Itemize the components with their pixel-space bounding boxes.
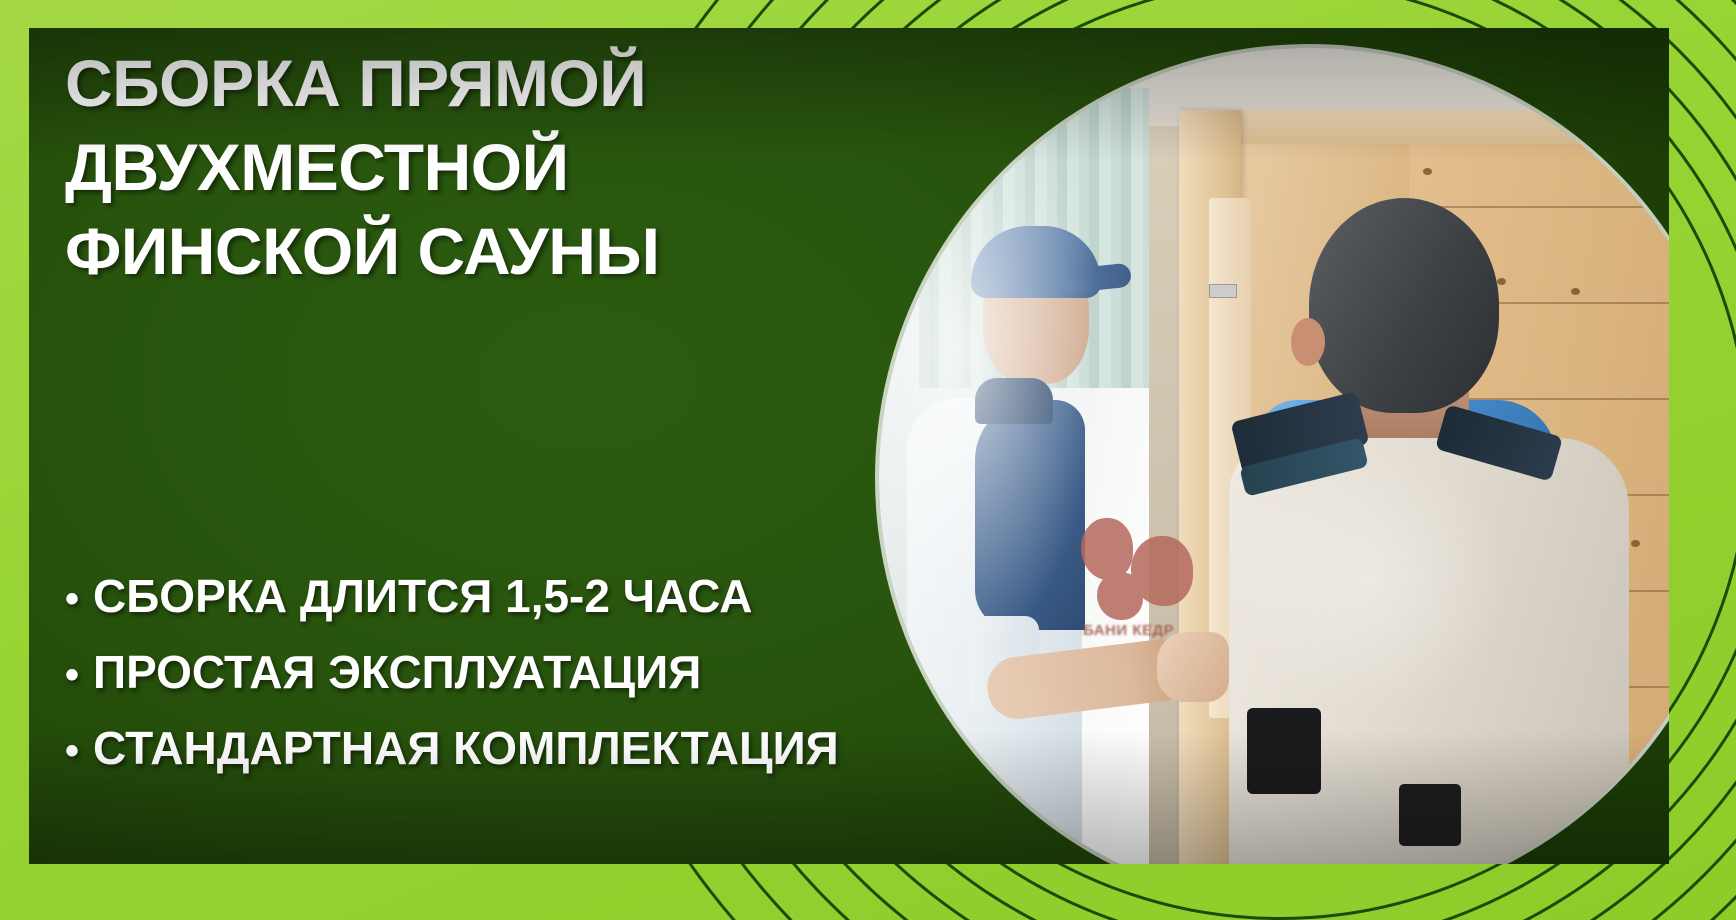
list-item: • СБОРКА ДЛИТСЯ 1,5-2 ЧАСА [65, 573, 905, 619]
worker-left-shoulder [975, 400, 1085, 630]
list-item-label: СБОРКА ДЛИТСЯ 1,5-2 ЧАСА [93, 573, 752, 619]
vest-logo-text: БАНИ КЕДР [1083, 622, 1174, 639]
photo-illustration: БАНИ КЕДР [879, 48, 1669, 864]
worker-right-pocket [1247, 708, 1321, 794]
content-panel: СБОРКА ПРЯМОЙ ДВУХМЕСТНОЙ ФИНСКОЙ САУНЫ … [29, 28, 1669, 864]
headline-line-3: ФИНСКОЙ САУНЫ [65, 210, 825, 294]
circular-photo: БАНИ КЕДР [879, 48, 1669, 864]
headline-line-1: СБОРКА ПРЯМОЙ [65, 42, 825, 126]
bullet-dot-icon: • [65, 579, 79, 619]
list-item-label: ПРОСТАЯ ЭКСПЛУАТАЦИЯ [93, 649, 701, 695]
sauna-cabin-top-beam [1179, 110, 1669, 144]
headline-line-2: ДВУХМЕСТНОЙ [65, 126, 825, 210]
bullet-dot-icon: • [65, 655, 79, 695]
list-item-label: СТАНДАРТНАЯ КОМПЛЕКТАЦИЯ [93, 725, 839, 771]
worker-right-ear [1291, 318, 1325, 366]
vest-logo: БАНИ КЕДР [1075, 518, 1225, 658]
worker-right-pocket-2 [1399, 784, 1461, 846]
list-item: • СТАНДАРТНАЯ КОМПЛЕКТАЦИЯ [65, 725, 905, 771]
page-title: СБОРКА ПРЯМОЙ ДВУХМЕСТНОЙ ФИНСКОЙ САУНЫ [65, 42, 825, 293]
promo-banner: СБОРКА ПРЯМОЙ ДВУХМЕСТНОЙ ФИНСКОЙ САУНЫ … [0, 0, 1736, 920]
list-item: • ПРОСТАЯ ЭКСПЛУАТАЦИЯ [65, 649, 905, 695]
door-hinge [1209, 284, 1237, 298]
worker-right-head [1309, 198, 1499, 413]
bullet-dot-icon: • [65, 731, 79, 771]
feature-list: • СБОРКА ДЛИТСЯ 1,5-2 ЧАСА • ПРОСТАЯ ЭКС… [65, 573, 905, 801]
worker-left-collar [975, 378, 1053, 424]
